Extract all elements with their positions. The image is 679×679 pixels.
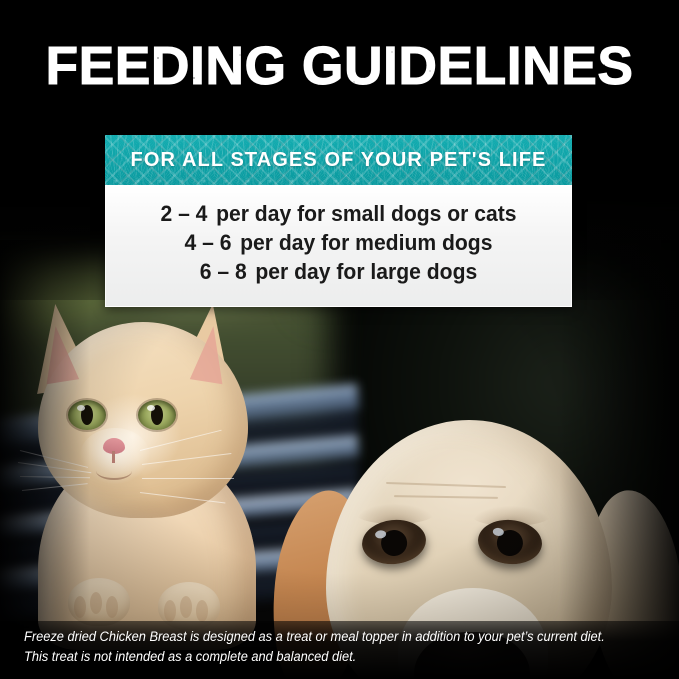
guidelines-panel: FOR ALL STAGES OF YOUR PET'S LIFE 2 – 4p… bbox=[105, 135, 572, 307]
guideline-row: 6 – 8per day for large dogs bbox=[115, 257, 561, 286]
pet-photo-background bbox=[0, 0, 679, 679]
disclaimer-band: Freeze dried Chicken Breast is designed … bbox=[0, 621, 679, 679]
right-edge-shadow bbox=[559, 240, 679, 679]
cat-eye-right bbox=[138, 400, 176, 430]
guideline-text: per day for small dogs or cats bbox=[216, 201, 516, 226]
guideline-range: 6 – 8 bbox=[200, 259, 247, 284]
guideline-range: 4 – 6 bbox=[185, 230, 232, 255]
guideline-text: per day for medium dogs bbox=[240, 230, 492, 255]
panel-header-band: FOR ALL STAGES OF YOUR PET'S LIFE bbox=[105, 135, 572, 185]
panel-header-text: FOR ALL STAGES OF YOUR PET'S LIFE bbox=[105, 135, 572, 185]
guideline-range: 2 – 4 bbox=[160, 201, 207, 226]
guidelines-list: 2 – 4per day for small dogs or cats 4 – … bbox=[105, 185, 572, 307]
guideline-row: 2 – 4per day for small dogs or cats bbox=[115, 199, 561, 228]
guideline-text: per day for large dogs bbox=[255, 259, 477, 284]
feeding-guidelines-panel: FEEDING GUIDELINES FOR ALL STAGES OF YOU… bbox=[0, 0, 679, 679]
disclaimer-line-2: This treat is not intended as a complete… bbox=[24, 647, 646, 667]
disclaimer-line-1: Freeze dried Chicken Breast is designed … bbox=[24, 627, 646, 647]
cat-nose bbox=[103, 438, 125, 454]
page-title: FEEDING GUIDELINES bbox=[3, 38, 675, 94]
guideline-row: 4 – 6per day for medium dogs bbox=[115, 228, 561, 257]
left-edge-shadow bbox=[0, 240, 90, 679]
cat-mouth bbox=[96, 462, 132, 480]
